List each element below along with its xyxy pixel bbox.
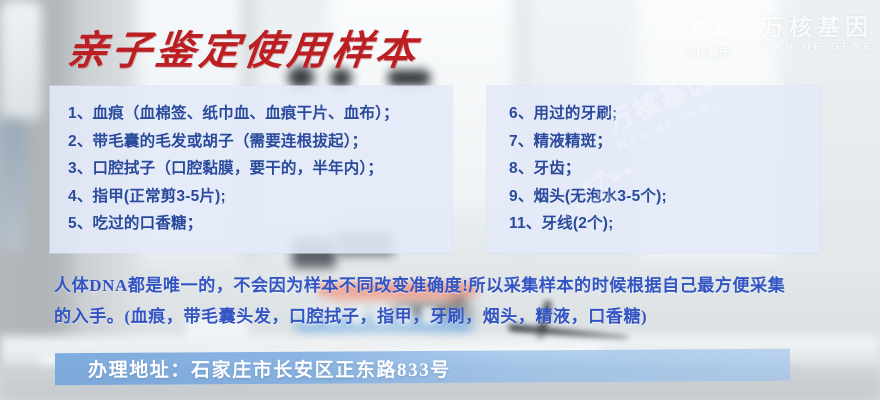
brand-name-en: WAN HE GENE	[761, 42, 874, 54]
brand-name-cn: 万核基因	[761, 15, 874, 39]
brand-logo-label: 万核基因	[684, 45, 732, 61]
list-item: 5、吃过的口香糖；	[68, 210, 452, 238]
page-title: 亲子鉴定使用样本	[64, 18, 423, 76]
sample-list-panel-left: 1、血痕（血棉签、纸巾血、血痕干片、血布）； 2、带毛囊的毛发或胡子（需要连根拔…	[50, 86, 452, 253]
sample-list-right: 6、用过的牙刷; 7、精液精斑； 8、牙齿； 9、烟头(无泡水3-5个); 11…	[487, 86, 820, 238]
list-item: 9、烟头(无泡水3-5个);	[509, 183, 820, 211]
sample-list-left: 1、血痕（血棉签、纸巾血、血痕干片、血布）； 2、带毛囊的毛发或胡子（需要连根拔…	[50, 86, 452, 238]
brand-watermark: 万核基因 万核基因 WAN HE GENE	[676, 8, 874, 61]
brand-name-block: 万核基因 WAN HE GENE	[761, 15, 874, 54]
address-text: 办理地址：石家庄市长安区正东路833号	[88, 353, 451, 383]
list-item: 3、口腔拭子（口腔黏膜，要干的，半年内）；	[68, 155, 452, 183]
list-item: 1、血痕（血棉签、纸巾血、血痕干片、血布）；	[68, 100, 452, 128]
list-item: 7、精液精斑；	[509, 128, 820, 156]
list-item: 2、带毛囊的毛发或胡子（需要连根拔起）；	[68, 128, 452, 156]
list-item: 4、指甲(正常剪3-5片);	[68, 183, 452, 211]
molecule-icon	[676, 8, 740, 42]
brand-divider	[750, 15, 751, 55]
microscope-arm-shadow	[0, 120, 26, 250]
note-line-2: 的入手。(血痕，带毛囊头发，口腔拭子，指甲，牙刷，烟头，精液，口香糖)	[54, 301, 844, 332]
note-line-1: 人体DNA都是唯一的，不会因为样本不同改变准确度!所以采集样本的时候根据自己最方…	[54, 270, 844, 301]
list-item: 8、牙齿；	[509, 155, 820, 183]
sample-list-panel-right: 6、用过的牙刷; 7、精液精斑； 8、牙齿； 9、烟头(无泡水3-5个); 11…	[487, 86, 820, 253]
note-paragraph: 人体DNA都是唯一的，不会因为样本不同改变准确度!所以采集样本的时候根据自己最方…	[54, 270, 844, 332]
list-item: 11、牙线(2个);	[509, 210, 820, 238]
poster-canvas: 万核基因 万核基因 WAN HE GENE 亲子鉴定使用样本 1、血痕（血棉签、…	[0, 0, 880, 400]
microscope-arm	[0, 0, 42, 120]
brand-logo: 万核基因	[676, 8, 740, 61]
list-item: 6、用过的牙刷;	[509, 100, 820, 128]
